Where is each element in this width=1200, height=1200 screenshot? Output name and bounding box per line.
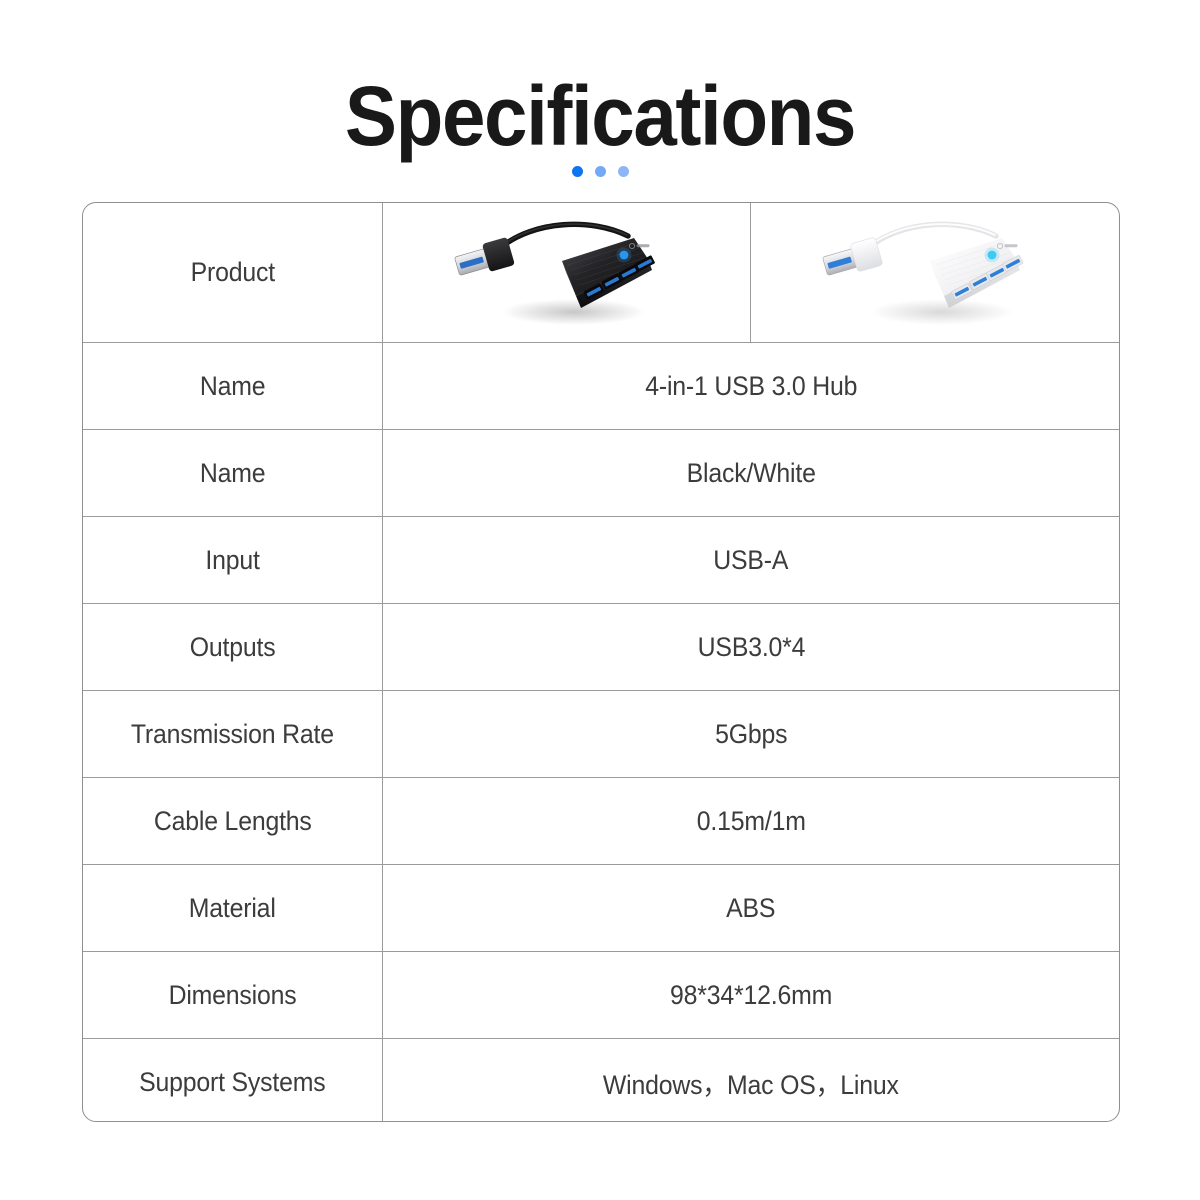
row-label-input: Input <box>83 517 383 603</box>
row-value-text: 0.15m/1m <box>697 806 806 837</box>
row-value-outputs: USB3.0*4 <box>383 604 1119 690</box>
row-label-text: Cable Lengths <box>154 806 312 837</box>
row-label-product: Product <box>83 203 383 342</box>
row-label-text: Outputs <box>190 632 276 663</box>
table-row: Name 4-in-1 USB 3.0 Hub <box>83 343 1119 430</box>
row-value-text: 5Gbps <box>715 719 787 750</box>
row-value-transmission-rate: 5Gbps <box>383 691 1119 777</box>
product-image-cell-white <box>751 203 1119 342</box>
row-label-text: Name <box>200 371 266 402</box>
page-title: Specifications <box>42 68 1158 164</box>
table-row: Transmission Rate 5Gbps <box>83 691 1119 778</box>
row-value-text: 98*34*12.6mm <box>670 980 832 1011</box>
dot-2 <box>595 166 606 177</box>
row-value-text: Windows，Mac OS，Linux <box>603 1063 899 1102</box>
row-value-support-systems: Windows，Mac OS，Linux <box>383 1039 1119 1122</box>
product-image-cell-black <box>383 203 751 342</box>
table-row: Dimensions 98*34*12.6mm <box>83 952 1119 1039</box>
table-row: Name Black/White <box>83 430 1119 517</box>
specifications-table: Product <box>82 202 1120 1122</box>
row-label-color: Name <box>83 430 383 516</box>
row-value-text: Black/White <box>686 458 815 489</box>
row-value-text: ABS <box>726 893 775 924</box>
dot-active <box>572 166 583 177</box>
row-value-text: USB3.0*4 <box>697 632 805 663</box>
table-row: Outputs USB3.0*4 <box>83 604 1119 691</box>
row-value-cable-lengths: 0.15m/1m <box>383 778 1119 864</box>
row-value-dimensions: 98*34*12.6mm <box>383 952 1119 1038</box>
row-label-transmission-rate: Transmission Rate <box>83 691 383 777</box>
row-label-text: Product <box>190 257 274 288</box>
table-row: Support Systems Windows，Mac OS，Linux <box>83 1039 1119 1122</box>
row-value-text: USB-A <box>713 545 788 576</box>
row-value-text: 4-in-1 USB 3.0 Hub <box>645 371 857 402</box>
row-label-support-systems: Support Systems <box>83 1039 383 1122</box>
row-label-text: Input <box>205 545 259 576</box>
row-value-material: ABS <box>383 865 1119 951</box>
row-label-text: Dimensions <box>169 980 297 1011</box>
dot-3 <box>618 166 629 177</box>
row-label-material: Material <box>83 865 383 951</box>
row-label-text: Transmission Rate <box>131 719 334 750</box>
row-value-input: USB-A <box>383 517 1119 603</box>
row-label-text: Material <box>189 893 276 924</box>
row-value-name: 4-in-1 USB 3.0 Hub <box>383 343 1119 429</box>
row-label-text: Name <box>200 458 266 489</box>
row-label-dimensions: Dimensions <box>83 952 383 1038</box>
table-row: Cable Lengths 0.15m/1m <box>83 778 1119 865</box>
table-row: Product <box>83 203 1119 343</box>
row-value-color: Black/White <box>383 430 1119 516</box>
dot-indicator-group <box>0 166 1200 177</box>
row-label-name: Name <box>83 343 383 429</box>
usb-hub-white-image <box>810 214 1060 332</box>
table-row: Input USB-A <box>83 517 1119 604</box>
row-label-outputs: Outputs <box>83 604 383 690</box>
row-label-text: Support Systems <box>139 1067 325 1098</box>
usb-hub-black-image <box>442 214 692 332</box>
row-label-cable-lengths: Cable Lengths <box>83 778 383 864</box>
table-row: Material ABS <box>83 865 1119 952</box>
